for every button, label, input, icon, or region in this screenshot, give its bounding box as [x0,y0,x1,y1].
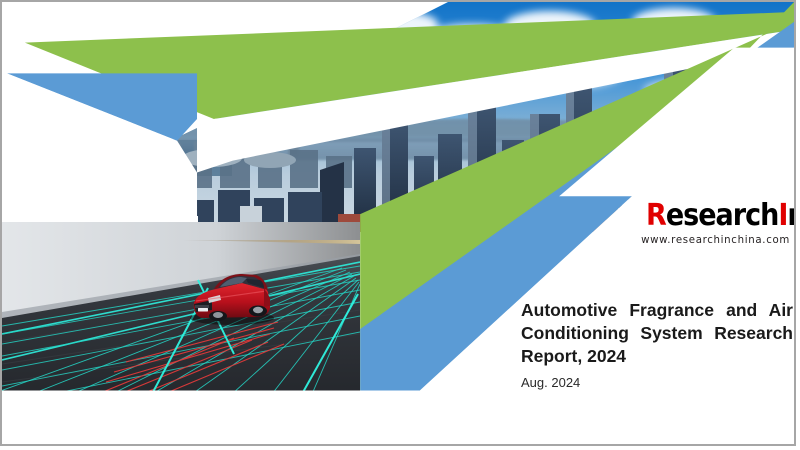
logo-letter-r: R [646,198,666,233]
researchinchina-logo: ResearchInChina www.researchinchina.com [630,200,790,246]
report-title: Automotive Fragrance and Air Conditionin… [521,299,793,368]
logo-letter-i: I [778,198,787,233]
report-cover-slide: ResearchInChina www.researchinchina.com … [0,0,796,446]
logo-letter-n: n [787,198,796,233]
report-date: Aug. 2024 [521,374,793,392]
logo-text-esearch: esearch [666,198,779,233]
logo-wordmark: ResearchInChina [646,200,790,232]
road-car-sensor-photo [2,222,360,394]
logo-website-url[interactable]: www.researchinchina.com [635,234,790,246]
cover-title-block: Automotive Fragrance and Air Conditionin… [521,299,793,392]
